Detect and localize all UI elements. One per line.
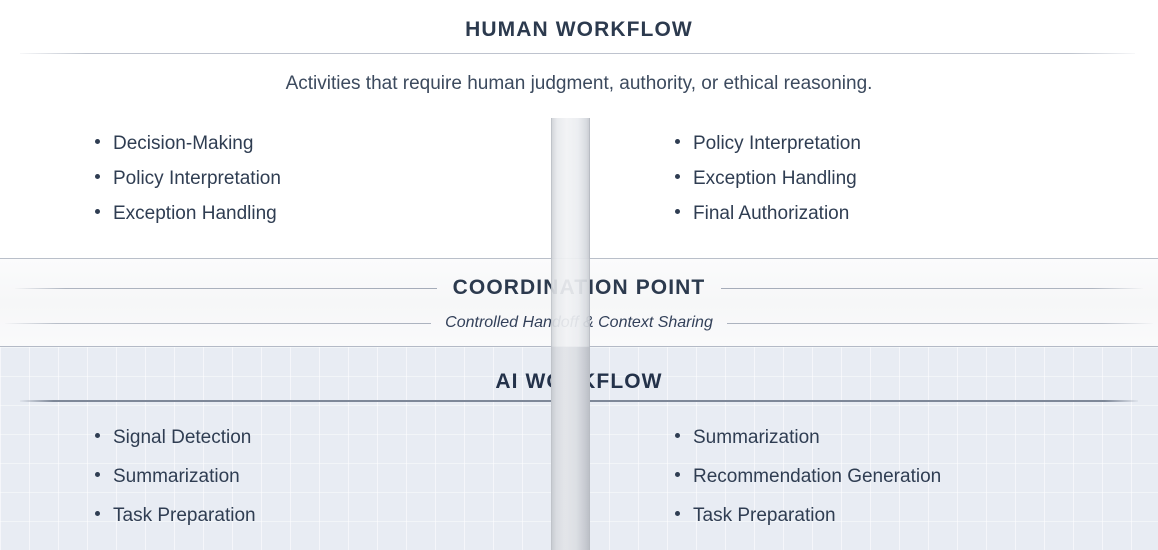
list-item-label: Summarization [693, 427, 820, 449]
list-item: Summarization [95, 466, 256, 488]
list-item: Task Preparation [95, 505, 256, 527]
list-item-label: Decision-Making [113, 133, 253, 155]
bullet-icon [95, 472, 100, 477]
list-item: Recommendation Generation [675, 466, 941, 488]
center-divider-bar-bottom [551, 347, 590, 550]
center-divider-bar-coordination [551, 258, 590, 347]
list-item: Exception Handling [95, 203, 281, 225]
bullet-icon [675, 174, 680, 179]
list-item-label: Exception Handling [113, 203, 277, 225]
coordination-subrule-left [5, 323, 431, 324]
bullet-icon [95, 433, 100, 438]
bullet-icon [95, 139, 100, 144]
list-item-label: Policy Interpretation [113, 168, 281, 190]
list-item: Summarization [675, 427, 941, 449]
list-item: Signal Detection [95, 427, 256, 449]
human-left-list: Decision-Making Policy Interpretation Ex… [95, 133, 281, 238]
bullet-icon [675, 511, 680, 516]
list-item: Policy Interpretation [95, 168, 281, 190]
list-item: Task Preparation [675, 505, 941, 527]
list-item-label: Exception Handling [693, 168, 857, 190]
coordination-subrule-right [727, 323, 1153, 324]
bullet-icon [95, 209, 100, 214]
list-item: Exception Handling [675, 168, 861, 190]
list-item: Final Authorization [675, 203, 861, 225]
human-title-divider [20, 53, 1135, 54]
bullet-icon [95, 511, 100, 516]
list-item-label: Recommendation Generation [693, 466, 941, 488]
workflow-diagram: HUMAN WORKFLOW Activities that require h… [0, 0, 1158, 550]
list-item-label: Summarization [113, 466, 240, 488]
bullet-icon [675, 472, 680, 477]
coordination-rule-right [721, 288, 1143, 289]
human-workflow-title: HUMAN WORKFLOW [0, 18, 1158, 42]
list-item-label: Task Preparation [113, 505, 256, 527]
bullet-icon [95, 174, 100, 179]
list-item-label: Final Authorization [693, 203, 849, 225]
list-item: Decision-Making [95, 133, 281, 155]
human-right-list: Policy Interpretation Exception Handling… [675, 133, 861, 238]
list-item-label: Policy Interpretation [693, 133, 861, 155]
bullet-icon [675, 209, 680, 214]
ai-left-list: Signal Detection Summarization Task Prep… [95, 427, 256, 544]
bullet-icon [675, 139, 680, 144]
list-item-label: Signal Detection [113, 427, 251, 449]
coordination-rule-left [15, 288, 437, 289]
center-divider-bar-top [551, 118, 590, 258]
human-workflow-subtitle: Activities that require human judgment, … [0, 73, 1158, 95]
ai-right-list: Summarization Recommendation Generation … [675, 427, 941, 544]
list-item-label: Task Preparation [693, 505, 836, 527]
bullet-icon [675, 433, 680, 438]
list-item: Policy Interpretation [675, 133, 861, 155]
